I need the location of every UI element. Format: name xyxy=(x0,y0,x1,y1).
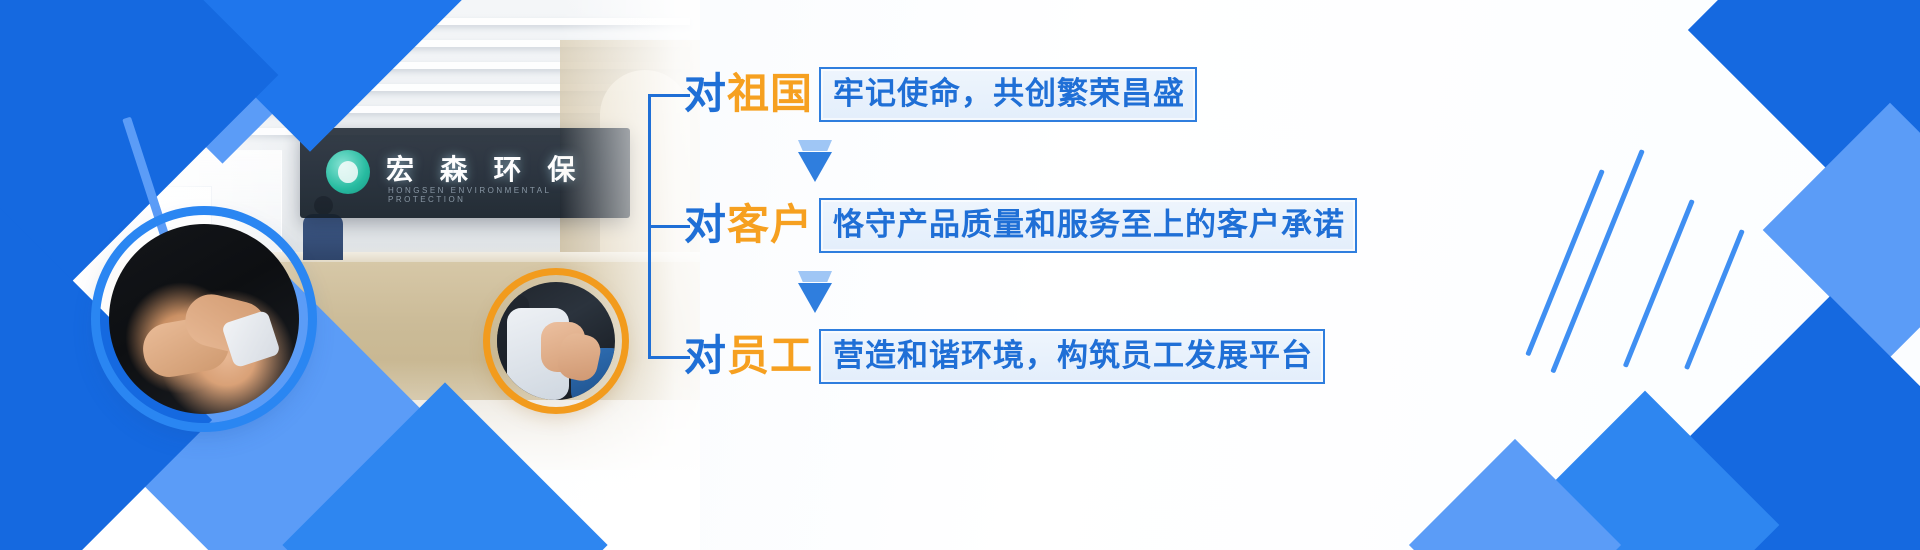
value-lead-prefix-2: 对 xyxy=(684,201,727,248)
deco-line-4 xyxy=(1684,229,1745,370)
value-lead-highlight-3: 员工 xyxy=(727,332,813,379)
value-phrase-1: 牢记使命，共创繁荣昌盛 xyxy=(819,67,1197,122)
value-row-1: 对祖国 牢记使命，共创繁荣昌盛 xyxy=(684,64,1197,124)
value-lead-highlight-2: 客户 xyxy=(727,201,813,248)
value-lead-prefix-3: 对 xyxy=(684,332,727,379)
value-row-3: 对员工 营造和谐环境，构筑员工发展平台 xyxy=(684,326,1325,386)
company-sign-name: 宏 森 环 保 xyxy=(386,148,584,188)
value-lead-highlight-1: 祖国 xyxy=(727,70,813,117)
value-phrase-2: 恪守产品质量和服务至上的客户承诺 xyxy=(819,198,1357,253)
applause-circle-photo xyxy=(497,282,615,400)
value-phrase-3: 营造和谐环境，构筑员工发展平台 xyxy=(819,329,1325,384)
value-row-2: 对客户 恪守产品质量和服务至上的客户承诺 xyxy=(684,195,1357,255)
company-logo-icon xyxy=(326,150,370,194)
handshake-circle-photo xyxy=(109,224,299,414)
value-lead-2: 对客户 xyxy=(684,195,813,255)
down-arrow-icon-1 xyxy=(796,140,834,182)
values-list: 对祖国 牢记使命，共创繁荣昌盛 对客户 恪守产品质量和服务至上的客户承诺 对员工… xyxy=(648,78,1408,408)
value-lead-3: 对员工 xyxy=(684,326,813,386)
down-arrow-icon-2 xyxy=(796,271,834,313)
company-values-banner: 宏 森 环 保 HONGSEN ENVIRONMENTAL PROTECTION xyxy=(0,0,1920,550)
value-lead-1: 对祖国 xyxy=(684,64,813,124)
value-lead-prefix-1: 对 xyxy=(684,70,727,117)
deco-line-3 xyxy=(1623,199,1695,368)
